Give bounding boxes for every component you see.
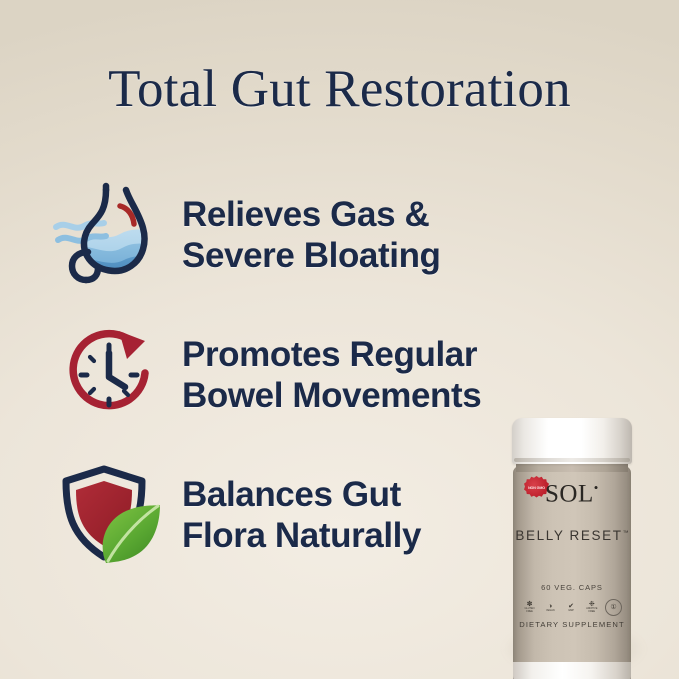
gluten-free-label: GLUTEN FREE xyxy=(522,608,537,614)
seal-label: NON GMO xyxy=(528,486,545,490)
shield-leaf-icon xyxy=(46,456,172,574)
brand-name: SOL xyxy=(545,480,594,507)
gluten-free-badge: ✽ GLUTEN FREE xyxy=(522,600,537,615)
product-infographic: Total Gut Restoration xyxy=(0,0,679,679)
vegan-label: VEGAN xyxy=(546,610,555,613)
stomach-waves-icon xyxy=(46,176,172,294)
benefit-text: Promotes Regular Bowel Movements xyxy=(172,334,566,416)
vegan-badge: ◑ VEGAN xyxy=(543,600,558,615)
trademark-icon: ™ xyxy=(623,531,629,537)
brand-mark-icon: • xyxy=(594,480,599,495)
benefit-row-relieves-gas: Relieves Gas & Severe Bloating xyxy=(46,176,566,294)
cap-seam xyxy=(514,458,630,462)
certification-badges: ✽ GLUTEN FREE ◑ VEGAN ✔ GMP ❉ ADDITIVE F… xyxy=(522,599,622,616)
benefit-line-1: Relieves Gas & xyxy=(182,194,566,235)
benefit-line-2: Severe Bloating xyxy=(182,235,566,276)
product-name: BELLY RESET™ xyxy=(505,528,639,543)
brand-logo: SOL• xyxy=(545,474,599,508)
benefit-row-balances-flora: Balances Gut Flora Naturally xyxy=(46,456,566,574)
additive-free-label: ADDITIVE FREE xyxy=(584,608,599,614)
benefit-line-1: Promotes Regular xyxy=(182,334,566,375)
dietary-supplement-label: DIETARY SUPPLEMENT xyxy=(505,620,639,629)
bottle-base xyxy=(513,662,631,679)
clock-arrow-icon xyxy=(46,316,172,434)
benefit-row-promotes-regularity: Promotes Regular Bowel Movements xyxy=(46,316,566,434)
additive-free-badge: ❉ ADDITIVE FREE xyxy=(584,600,599,615)
benefit-text: Relieves Gas & Severe Bloating xyxy=(172,194,566,276)
product-bottle: NON GMO SOL• BELLY RESET™ 60 VEG. CAPS ✽… xyxy=(505,418,639,679)
benefit-line-2: Bowel Movements xyxy=(182,375,566,416)
page-title: Total Gut Restoration xyxy=(0,58,679,120)
product-name-text: BELLY RESET xyxy=(515,528,622,543)
gmp-label: GMP xyxy=(568,610,574,613)
third-party-tested-badge: ① xyxy=(605,599,622,616)
third-party-tested-glyph: ① xyxy=(610,604,616,611)
gmp-certified-badge: ✔ GMP xyxy=(564,600,579,615)
capsule-count: 60 VEG. CAPS xyxy=(505,583,639,592)
